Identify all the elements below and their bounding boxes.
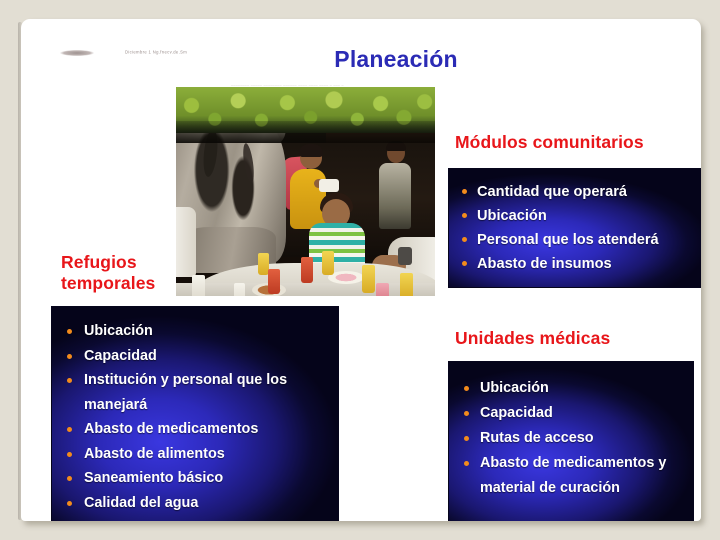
- watermark-header-text: Diciembre 1 Ng.fnecv.de.Sm: [125, 49, 187, 55]
- heading-line-1: Refugios: [61, 252, 155, 273]
- bullet-item: Abasto de insumos: [461, 252, 701, 276]
- bullet-list-unidades: Ubicación Capacidad Rutas de acceso Abas…: [449, 362, 693, 501]
- photo-person-standing-right-body: [379, 163, 411, 229]
- bullet-list-refugios: Ubicación Capacidad Institución y person…: [52, 307, 338, 515]
- photo-cup-yellow-2: [322, 251, 334, 275]
- bullet-item: Calidad del agua: [66, 491, 338, 516]
- bullet-item: Capacidad: [66, 344, 338, 369]
- photo-table-front: [176, 283, 435, 296]
- photo-cup-red-1: [268, 269, 280, 294]
- screenshot-stage: Diciembre 1 Ng.fnecv.de.Sm ________ ____…: [0, 0, 720, 540]
- photo-person-right-object: [398, 247, 412, 265]
- slide-photo: [176, 87, 435, 296]
- watermark-subline-text: ________ _____ ________ ______ ____ ____…: [231, 82, 344, 86]
- bullet-box-modulos-comunitarios: Cantidad que operará Ubicación Personal …: [449, 169, 701, 287]
- photo-person-left-shirt: [176, 207, 196, 277]
- slide-title: Planeación: [201, 46, 591, 73]
- bullet-item: Abasto de alimentos: [66, 442, 338, 467]
- bullet-item: Ubicación: [463, 376, 693, 401]
- photo-cup-pink-1: [376, 283, 389, 296]
- bullet-item: Saneamiento básico: [66, 466, 338, 491]
- bullet-item: Personal que los atenderá: [461, 228, 701, 252]
- bullet-item: Capacidad: [463, 401, 693, 426]
- heading-line-2: temporales: [61, 273, 155, 294]
- heading-refugios-temporales: Refugios temporales: [61, 252, 155, 295]
- heading-modulos-comunitarios: Módulos comunitarios: [455, 132, 644, 153]
- bullet-item: Rutas de acceso: [463, 426, 693, 451]
- bullet-box-refugios-temporales: Ubicación Capacidad Institución y person…: [52, 307, 338, 521]
- photo-cup-yellow-3: [362, 265, 375, 293]
- bullet-box-unidades-medicas: Ubicación Capacidad Rutas de acceso Abas…: [449, 362, 693, 521]
- photo-cup-white-2: [234, 283, 245, 296]
- photo-cup-red-2: [301, 257, 313, 283]
- photo-cup-yellow-4: [400, 273, 413, 296]
- bullet-item: Ubicación: [461, 204, 701, 228]
- heading-unidades-medicas: Unidades médicas: [455, 328, 610, 349]
- photo-image: [176, 87, 435, 296]
- watermark-logo-icon: [60, 50, 94, 56]
- bullet-item: Cantidad que operará: [461, 180, 701, 204]
- photo-apron-plate: [319, 179, 339, 192]
- bullet-list-modulos: Cantidad que operará Ubicación Personal …: [449, 169, 701, 276]
- photo-person-apron-hair: [299, 144, 323, 157]
- bullet-item: Institución y personal que los manejará: [66, 368, 338, 417]
- bullet-item: Abasto de medicamentos: [66, 417, 338, 442]
- photo-cup-white-1: [192, 275, 205, 296]
- photo-foliage-shadow: [176, 121, 435, 143]
- bullet-item: Abasto de medicamentos y material de cur…: [463, 451, 693, 501]
- photo-person-apron-body: [290, 169, 326, 229]
- presentation-slide: Diciembre 1 Ng.fnecv.de.Sm ________ ____…: [21, 19, 701, 521]
- bullet-item: Ubicación: [66, 319, 338, 344]
